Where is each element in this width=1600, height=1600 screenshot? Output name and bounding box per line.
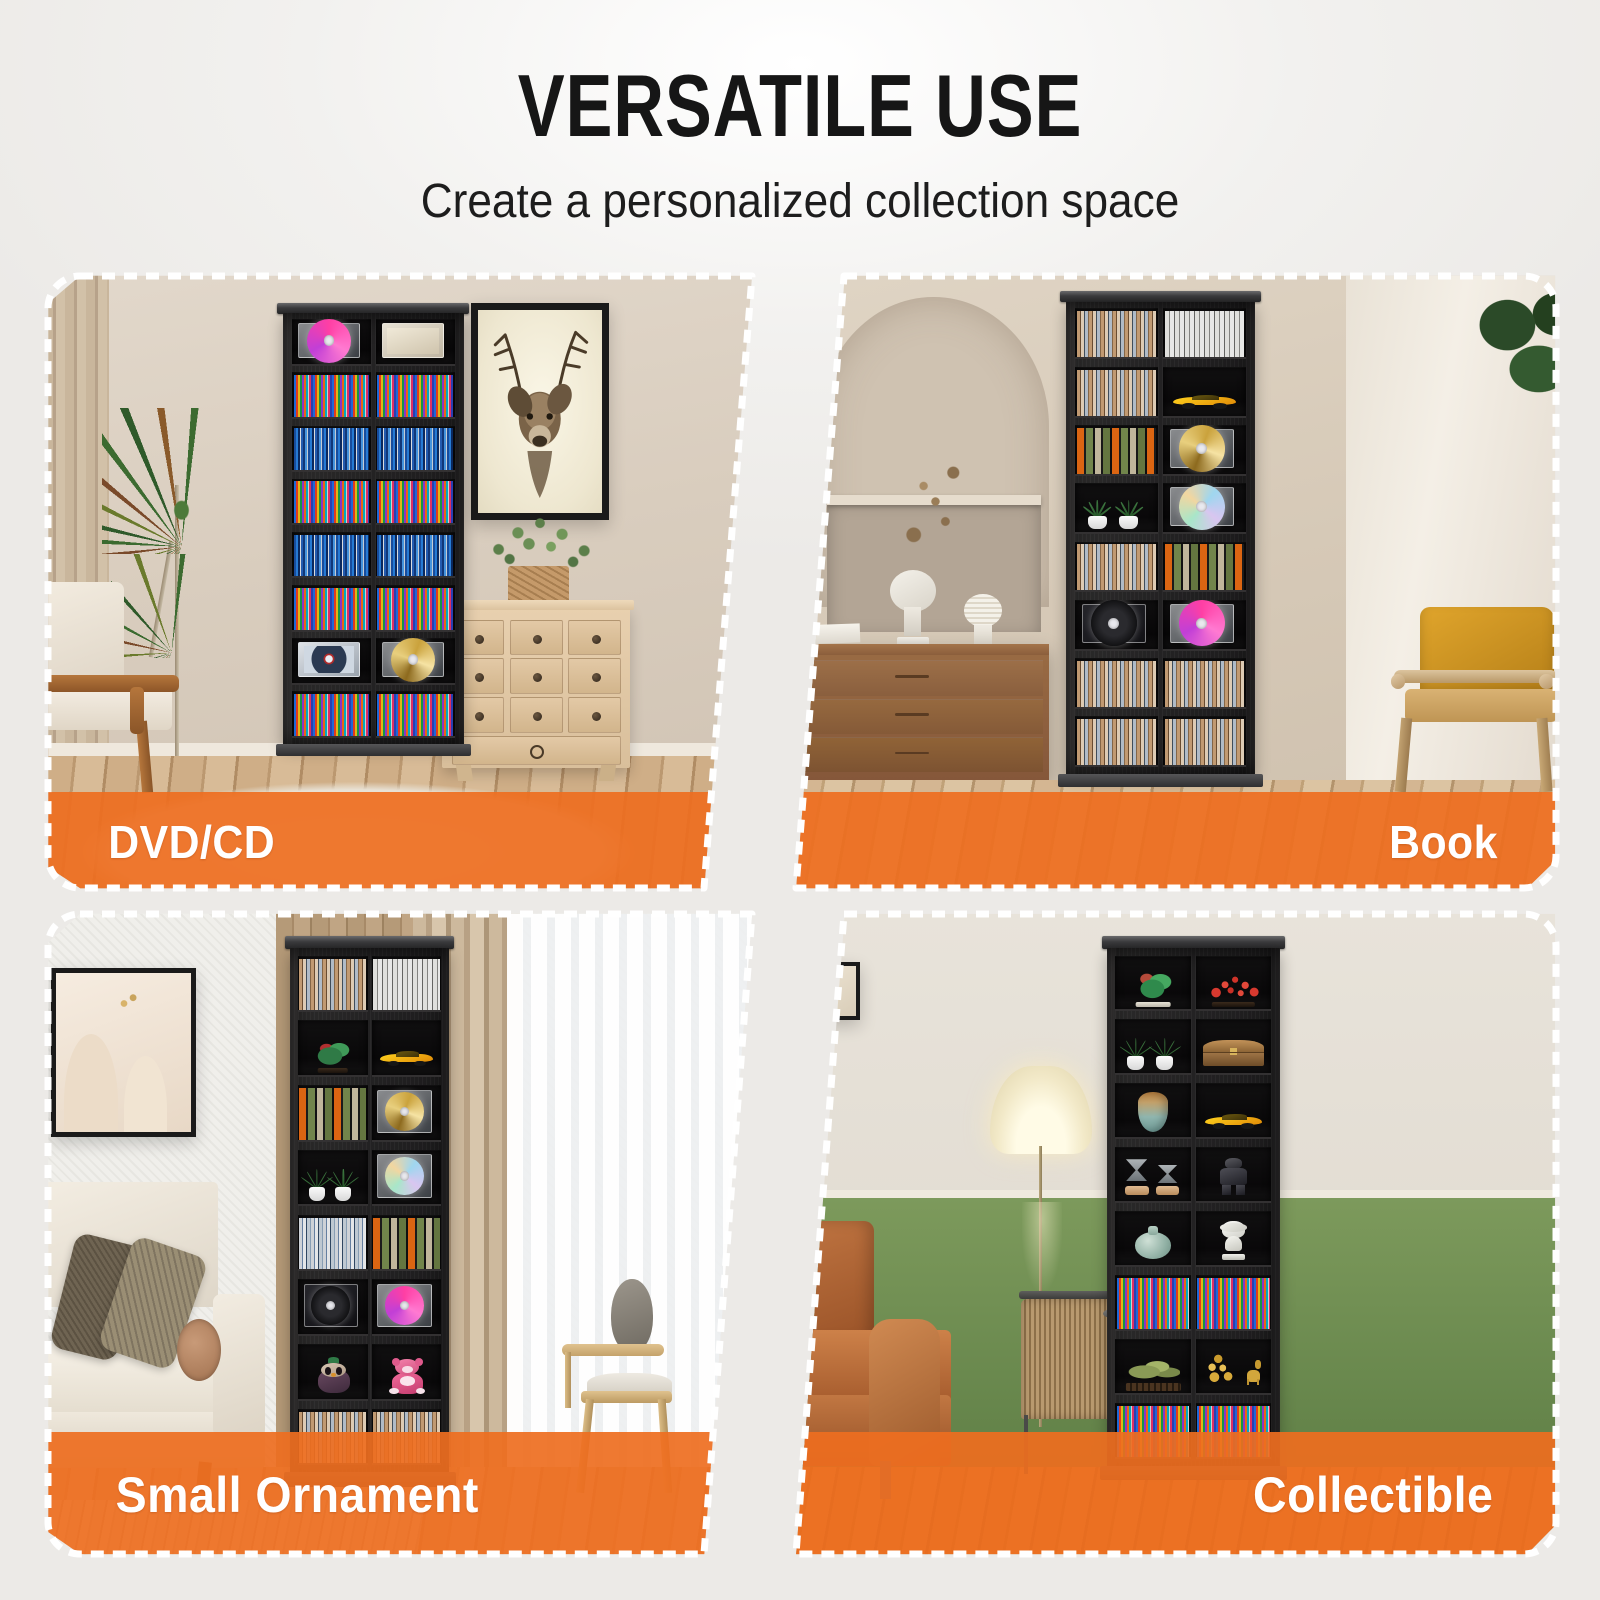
shelf-cell bbox=[298, 956, 368, 1013]
succulent-pot bbox=[1118, 501, 1140, 529]
succulent-pot bbox=[308, 1170, 326, 1202]
caption-band-small-ornament: Small Ornament bbox=[44, 1432, 768, 1558]
shelf-cell bbox=[1075, 600, 1158, 651]
shelf-cell bbox=[1075, 367, 1158, 418]
shelf-cell bbox=[376, 426, 455, 472]
shelf-cell bbox=[376, 319, 455, 365]
owl-figurine bbox=[318, 1359, 350, 1393]
wooden-armchair-ochre-cushion bbox=[1387, 607, 1560, 793]
yellow-toy-sports-car bbox=[1173, 392, 1236, 409]
shelf-cell bbox=[1115, 1019, 1191, 1075]
caption-label: Collectible bbox=[1253, 1466, 1493, 1524]
shelf-cell bbox=[1196, 1339, 1272, 1395]
shelf-cell bbox=[376, 638, 455, 684]
caption-label: Small Ornament bbox=[116, 1466, 479, 1524]
card-small-ornament[interactable]: Small Ornament bbox=[44, 910, 768, 1558]
caption-band-book: Book bbox=[736, 792, 1560, 892]
red-coral-ornament bbox=[1206, 973, 1262, 1001]
shelf-cell bbox=[1115, 1339, 1191, 1395]
succulent-pot bbox=[1155, 1039, 1175, 1070]
shelf-cell bbox=[298, 1279, 368, 1336]
deer-artwork-frame bbox=[471, 303, 609, 520]
shelf-cell bbox=[376, 372, 455, 418]
shelf-cell bbox=[292, 532, 371, 578]
shelf-cell bbox=[372, 1150, 442, 1207]
shelf-cell bbox=[1163, 483, 1246, 534]
shelf-cell bbox=[1163, 308, 1246, 359]
tower-shelf-grid bbox=[292, 319, 455, 738]
shelf-cell bbox=[1196, 956, 1272, 1012]
tower-shelf-grid bbox=[1075, 308, 1246, 767]
shelf-cell bbox=[292, 638, 371, 684]
page-subtitle: Create a personalized collection space bbox=[64, 150, 1536, 228]
yellow-toy-sports-car bbox=[380, 1049, 433, 1066]
caption-label: Book bbox=[1389, 815, 1498, 869]
striped-ceramic-vase bbox=[958, 594, 1007, 650]
shelf-cell bbox=[372, 956, 442, 1013]
shelf-cell bbox=[372, 1344, 442, 1401]
shelf-cell bbox=[1075, 483, 1158, 534]
media-tower bbox=[1066, 291, 1256, 787]
brass-deer-figurine bbox=[1242, 1359, 1265, 1386]
shelf-cell bbox=[372, 1215, 442, 1272]
hourglass bbox=[1156, 1165, 1179, 1195]
gold-root-carving bbox=[1203, 1349, 1241, 1387]
card-book[interactable]: Book bbox=[736, 272, 1560, 892]
shelf-cell bbox=[298, 1344, 368, 1401]
cream-armchair bbox=[44, 582, 182, 793]
shelf-cell bbox=[1115, 956, 1191, 1012]
green-jade-figurine bbox=[1134, 972, 1175, 1001]
succulent-pot bbox=[1126, 1039, 1146, 1070]
ceramic-head-sculpture bbox=[884, 570, 942, 651]
monstera-plant bbox=[1478, 284, 1560, 420]
shelf-cell bbox=[292, 426, 371, 472]
shelf-cell bbox=[1163, 542, 1246, 593]
media-tower bbox=[283, 303, 464, 756]
shelf-cell bbox=[292, 372, 371, 418]
shelf-cell bbox=[1115, 1147, 1191, 1203]
shelf-cell bbox=[1163, 425, 1246, 476]
shelf-cell bbox=[1075, 425, 1158, 476]
tower-base bbox=[276, 744, 471, 756]
succulent-pot bbox=[1087, 501, 1109, 529]
shelf-cell bbox=[1196, 1211, 1272, 1267]
shelf-cell bbox=[1163, 367, 1246, 418]
card-collectible[interactable]: Collectible bbox=[736, 910, 1560, 1558]
caption-band-dvd-cd: DVD/CD bbox=[44, 792, 768, 892]
david-bust-sculpture bbox=[1217, 1221, 1250, 1260]
shelf-cell bbox=[1075, 658, 1158, 709]
page-title: VERSATILE USE bbox=[160, 0, 1440, 150]
shelf-cell bbox=[1196, 1019, 1272, 1075]
media-tower bbox=[1107, 936, 1280, 1480]
gradient-teardrop-vase bbox=[1138, 1092, 1168, 1132]
tower-shelf-grid bbox=[298, 956, 441, 1465]
shelf-cell bbox=[292, 691, 371, 737]
shelf-cell bbox=[292, 319, 371, 365]
shelf-cell bbox=[372, 1279, 442, 1336]
small-framed-art bbox=[794, 962, 860, 1020]
green-dragon-figurine bbox=[316, 1041, 351, 1066]
media-tower bbox=[290, 936, 449, 1487]
shelf-cell bbox=[1196, 1083, 1272, 1139]
celadon-round-vase bbox=[1135, 1226, 1171, 1258]
shelf-cell bbox=[1075, 716, 1158, 767]
shelf-cell bbox=[1163, 658, 1246, 709]
jade-carving-on-stand bbox=[1126, 1357, 1180, 1381]
shelf-cell bbox=[298, 1150, 368, 1207]
dark-knight-figurine bbox=[1218, 1158, 1248, 1195]
header: VERSATILE USE Create a personalized coll… bbox=[0, 0, 1600, 262]
shelf-cell bbox=[1115, 1275, 1191, 1331]
shelf-cell bbox=[298, 1085, 368, 1142]
shelf-cell bbox=[292, 479, 371, 525]
shelf-cell bbox=[298, 1215, 368, 1272]
shelf-cell bbox=[372, 1020, 442, 1077]
shelf-cell bbox=[1163, 600, 1246, 651]
yellow-toy-sports-car bbox=[1205, 1111, 1262, 1128]
shelf-cell bbox=[376, 585, 455, 631]
tower-shelf-grid bbox=[1115, 956, 1271, 1459]
succulent-pot bbox=[334, 1170, 352, 1202]
wooden-treasure-chest bbox=[1203, 1038, 1263, 1066]
papers-on-dresser bbox=[769, 624, 860, 646]
caption-label: DVD/CD bbox=[108, 815, 275, 869]
round-bolster-pillow bbox=[177, 1319, 221, 1381]
hourglass bbox=[1125, 1159, 1149, 1195]
shelf-cell bbox=[298, 1020, 368, 1077]
deer-illustration bbox=[478, 310, 602, 513]
dried-branch-arrangement bbox=[884, 446, 983, 558]
shelf-cell bbox=[292, 585, 371, 631]
shelf-cell bbox=[1075, 542, 1158, 593]
caption-band-collectible: Collectible bbox=[736, 1432, 1560, 1558]
shelf-cell bbox=[376, 479, 455, 525]
walnut-dresser bbox=[752, 644, 1049, 780]
abstract-arch-artwork bbox=[51, 968, 196, 1136]
shelf-cell bbox=[372, 1085, 442, 1142]
shelf-cell bbox=[1196, 1275, 1272, 1331]
shelf-cell bbox=[1075, 308, 1158, 359]
shelf-cell bbox=[376, 532, 455, 578]
tower-base bbox=[1058, 774, 1263, 787]
shelf-cell bbox=[1115, 1083, 1191, 1139]
card-dvd-cd[interactable]: DVD/CD bbox=[44, 272, 768, 892]
pink-teddy-bear bbox=[389, 1358, 427, 1394]
shelf-cell bbox=[1196, 1147, 1272, 1203]
shelf-cell bbox=[1163, 716, 1246, 767]
shelf-cell bbox=[1115, 1211, 1191, 1267]
shelf-cell bbox=[376, 691, 455, 737]
